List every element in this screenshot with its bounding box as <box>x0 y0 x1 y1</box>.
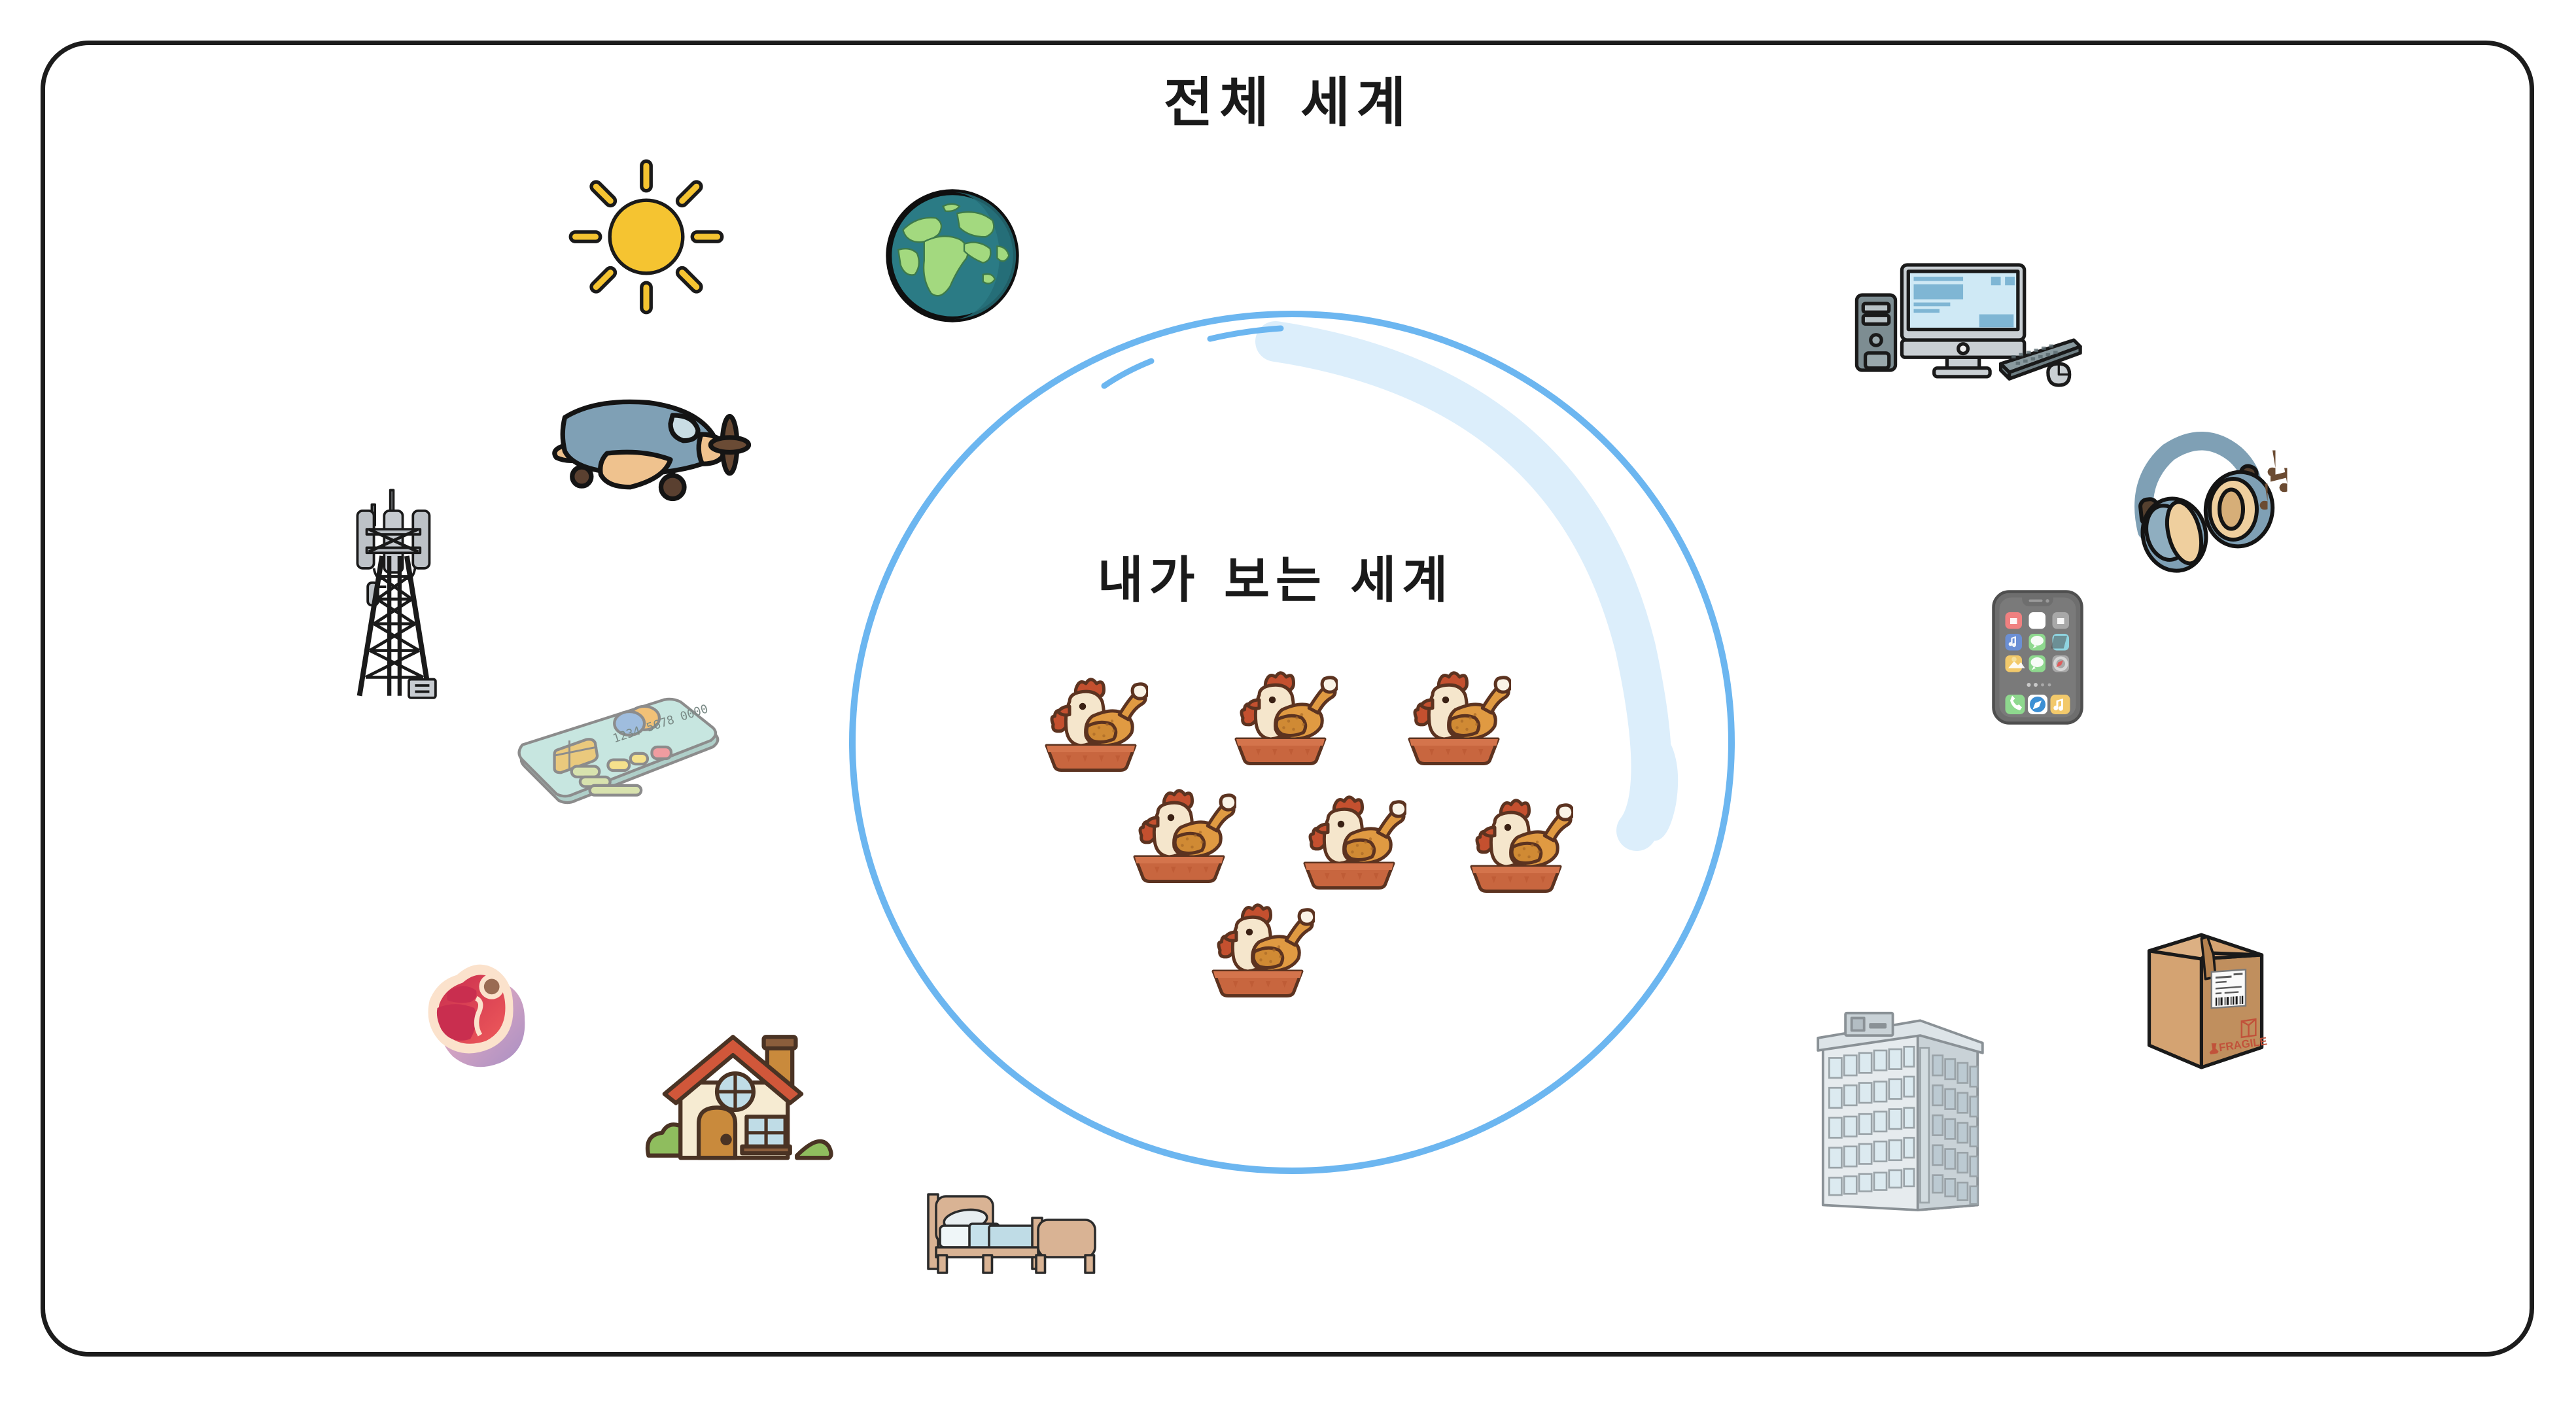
desktop-computer-icon <box>1846 250 2087 400</box>
fried-chicken-in-bowl-icon <box>1397 667 1511 765</box>
fried-chicken-in-bowl-icon <box>1459 795 1573 893</box>
credit-card-icon: 1234 5678 0000 <box>507 700 726 818</box>
fried-chicken-in-bowl-icon <box>1200 899 1315 997</box>
bed-icon <box>913 1171 1109 1279</box>
outer-world-title: 전체 세계 <box>0 59 2576 137</box>
meat-cut-icon <box>416 952 532 1068</box>
house-icon <box>628 1014 833 1174</box>
shipping-box-icon: FRAGILE <box>2139 929 2270 1069</box>
fried-chicken-in-bowl-icon <box>1034 674 1148 772</box>
perceived-world-title: 내가 보는 세계 <box>844 540 1707 612</box>
cell-tower-icon <box>332 484 457 700</box>
office-building-icon <box>1809 1011 1992 1210</box>
fried-chicken-in-bowl-icon <box>1292 791 1406 890</box>
fried-chicken-in-bowl-icon <box>1122 785 1236 883</box>
diagram-canvas: 전체 세계 내가 보는 세계 <box>0 0 2576 1403</box>
airplane-icon <box>535 379 751 517</box>
headphones-icon <box>2119 425 2296 576</box>
smartphone-icon <box>1989 589 2087 726</box>
globe-icon <box>882 185 1023 326</box>
fried-chicken-in-bowl-icon <box>1223 667 1338 765</box>
sun-icon <box>564 156 729 318</box>
